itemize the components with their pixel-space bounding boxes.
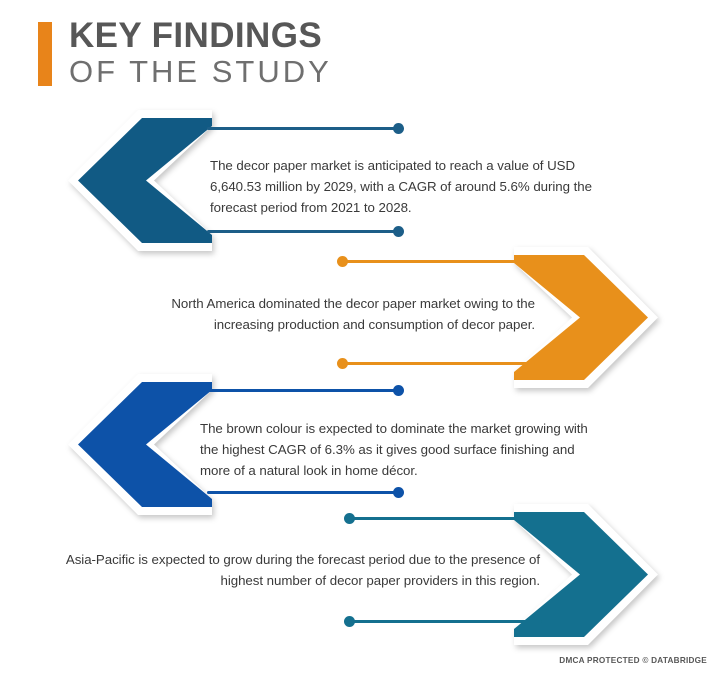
connector-line-3-top bbox=[207, 389, 399, 392]
connector-line-2-top bbox=[343, 260, 535, 263]
page-title-main: KEY FINDINGS bbox=[69, 18, 332, 54]
finding-text-2: North America dominated the decor paper … bbox=[120, 293, 535, 335]
footer-copyright: DMCA PROTECTED © DATABRIDGE bbox=[559, 656, 707, 665]
chevron-left-finding-3 bbox=[66, 372, 214, 517]
connector-line-2-bottom bbox=[343, 362, 535, 365]
connector-dot-3-top bbox=[393, 385, 404, 396]
connector-dot-1-top bbox=[393, 123, 404, 134]
connector-line-3-bottom bbox=[207, 491, 399, 494]
finding-text-1: The decor paper market is anticipated to… bbox=[210, 155, 600, 218]
infographic-canvas: KEY FINDINGS OF THE STUDY bbox=[0, 0, 721, 680]
title-accent-bar bbox=[38, 22, 52, 86]
connector-dot-3-bottom bbox=[393, 487, 404, 498]
connector-dot-2-bottom bbox=[337, 358, 348, 369]
connector-dot-1-bottom bbox=[393, 226, 404, 237]
finding-text-4: Asia-Pacific is expected to grow during … bbox=[30, 549, 540, 591]
connector-line-4-bottom bbox=[350, 620, 542, 623]
connector-line-1-top bbox=[207, 127, 399, 130]
finding-text-3: The brown colour is expected to dominate… bbox=[200, 418, 600, 481]
page-title: KEY FINDINGS OF THE STUDY bbox=[69, 18, 332, 89]
page-header: KEY FINDINGS OF THE STUDY bbox=[38, 18, 332, 89]
connector-line-1-bottom bbox=[207, 230, 399, 233]
connector-dot-2-top bbox=[337, 256, 348, 267]
chevron-left-finding-1 bbox=[66, 108, 214, 253]
connector-dot-4-top bbox=[344, 513, 355, 524]
connector-line-4-top bbox=[350, 517, 542, 520]
page-title-sub: OF THE STUDY bbox=[69, 55, 332, 89]
connector-dot-4-bottom bbox=[344, 616, 355, 627]
